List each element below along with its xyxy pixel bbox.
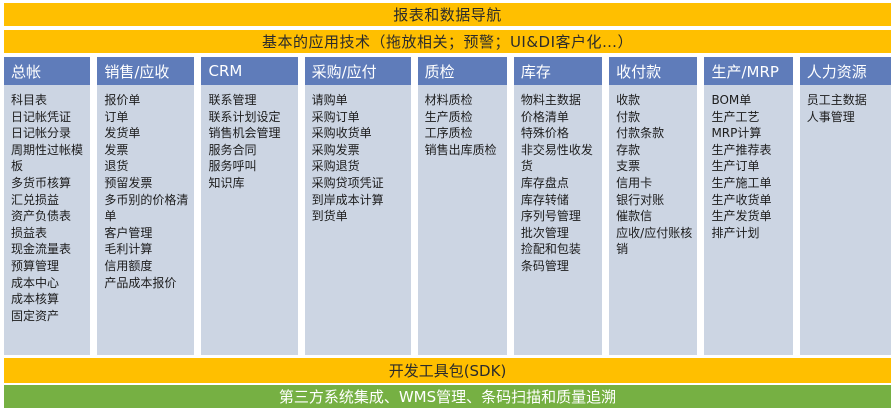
list-item[interactable]: 退货	[104, 158, 190, 175]
list-item[interactable]: 知识库	[208, 175, 293, 192]
column-body-quality-check: 材料质检 生产质检 工序质检 销售出库质检	[418, 85, 507, 355]
list-item[interactable]: 排产计划	[711, 225, 788, 242]
column-body-general-ledger: 科目表 日记帐凭证 日记帐分录 周期性过帐模板 多货币核算 汇兑损益 资产负债表…	[4, 85, 90, 355]
list-item[interactable]: 多货币核算	[11, 175, 86, 192]
column-general-ledger: 总帐 科目表 日记帐凭证 日记帐分录 周期性过帐模板 多货币核算 汇兑损益 资产…	[4, 57, 90, 355]
column-body-purchasing-ap: 请购单 采购订单 采购收货单 采购发票 采购退货 采购贷项凭证 到岸成本计算 到…	[305, 85, 411, 355]
list-item[interactable]: 应收/应付账核销	[616, 225, 693, 258]
list-item[interactable]: 销售机会管理	[208, 125, 293, 142]
banner-subtitle-text: 基本的应用技术（拖放相关；预警；UI&DI客户化…）	[262, 31, 633, 52]
list-item[interactable]: 支票	[616, 158, 693, 175]
list-item[interactable]: 工序质检	[425, 125, 503, 142]
banner-subtitle: 基本的应用技术（拖放相关；预警；UI&DI客户化…）	[4, 30, 891, 53]
list-item[interactable]: 科目表	[11, 92, 86, 109]
list-item[interactable]: 多币别的价格清单	[104, 192, 190, 225]
list-item[interactable]: 周期性过帐模板	[11, 142, 86, 175]
list-item[interactable]: 员工主数据	[807, 92, 887, 109]
list-item[interactable]: 日记帐凭证	[11, 109, 86, 126]
column-header-inventory[interactable]: 库存	[514, 57, 602, 85]
footer-sdk-bar: 开发工具包(SDK)	[4, 358, 891, 383]
module-map-root: 报表和数据导航 基本的应用技术（拖放相关；预警；UI&DI客户化…） 总帐 科目…	[0, 0, 895, 410]
column-body-crm: 联系管理 联系计划设定 销售机会管理 服务合同 服务呼叫 知识库	[201, 85, 297, 355]
list-item[interactable]: 催款信	[616, 208, 693, 225]
list-item[interactable]: 日记帐分录	[11, 125, 86, 142]
banner-title-text: 报表和数据导航	[393, 4, 502, 25]
list-item[interactable]: 生产推荐表	[711, 142, 788, 159]
list-item[interactable]: 生产发货单	[711, 208, 788, 225]
list-item[interactable]: 特殊价格	[521, 125, 598, 142]
list-item[interactable]: 采购退货	[312, 158, 407, 175]
column-purchasing-ap: 采购/应付 请购单 采购订单 采购收货单 采购发票 采购退货 采购贷项凭证 到岸…	[305, 57, 411, 355]
list-item[interactable]: 发票	[104, 142, 190, 159]
list-item[interactable]: 采购发票	[312, 142, 407, 159]
column-header-general-ledger[interactable]: 总帐	[4, 57, 90, 85]
list-item[interactable]: 生产订单	[711, 158, 788, 175]
column-crm: CRM 联系管理 联系计划设定 销售机会管理 服务合同 服务呼叫 知识库	[201, 57, 297, 355]
list-item[interactable]: 价格清单	[521, 109, 598, 126]
list-item[interactable]: 存款	[616, 142, 693, 159]
list-item[interactable]: 请购单	[312, 92, 407, 109]
list-item[interactable]: 序列号管理	[521, 208, 598, 225]
list-item[interactable]: 发货单	[104, 125, 190, 142]
list-item[interactable]: 汇兑损益	[11, 192, 86, 209]
list-item[interactable]: 生产质检	[425, 109, 503, 126]
list-item[interactable]: 资产负债表	[11, 208, 86, 225]
column-header-crm[interactable]: CRM	[201, 57, 297, 85]
column-body-sales-ar: 报价单 订单 发货单 发票 退货 预留发票 多币别的价格清单 客户管理 毛利计算…	[97, 85, 194, 355]
column-quality-check: 质检 材料质检 生产质检 工序质检 销售出库质检	[418, 57, 507, 355]
list-item[interactable]: 信用卡	[616, 175, 693, 192]
list-item[interactable]: 付款	[616, 109, 693, 126]
column-header-purchasing-ap[interactable]: 采购/应付	[305, 57, 411, 85]
list-item[interactable]: 销售出库质检	[425, 142, 503, 159]
list-item[interactable]: 到岸成本计算	[312, 192, 407, 209]
list-item[interactable]: 材料质检	[425, 92, 503, 109]
list-item[interactable]: 联系管理	[208, 92, 293, 109]
column-payments: 收付款 收款 付款 付款条款 存款 支票 信用卡 银行对账 催款信 应收/应付账…	[609, 57, 697, 355]
list-item[interactable]: 物料主数据	[521, 92, 598, 109]
column-header-production-mrp[interactable]: 生产/MRP	[704, 57, 792, 85]
column-header-payments[interactable]: 收付款	[609, 57, 697, 85]
column-header-quality-check[interactable]: 质检	[418, 57, 507, 85]
column-body-payments: 收款 付款 付款条款 存款 支票 信用卡 银行对账 催款信 应收/应付账核销	[609, 85, 697, 355]
footer-sdk-text: 开发工具包(SDK)	[389, 360, 507, 381]
column-header-sales-ar[interactable]: 销售/应收	[97, 57, 194, 85]
footer-integration-bar: 第三方系统集成、WMS管理、条码扫描和质量追溯	[4, 385, 891, 408]
list-item[interactable]: 信用额度	[104, 258, 190, 275]
list-item[interactable]: 到货单	[312, 208, 407, 225]
list-item[interactable]: 产品成本报价	[104, 275, 190, 292]
list-item[interactable]: 库存盘点	[521, 175, 598, 192]
list-item[interactable]: 生产施工单	[711, 175, 788, 192]
list-item[interactable]: 付款条款	[616, 125, 693, 142]
list-item[interactable]: 损益表	[11, 225, 86, 242]
list-item[interactable]: 客户管理	[104, 225, 190, 242]
column-production-mrp: 生产/MRP BOM单 生产工艺 MRP计算 生产推荐表 生产订单 生产施工单 …	[704, 57, 792, 355]
column-human-resources: 人力资源 员工主数据 人事管理	[800, 57, 891, 355]
list-item[interactable]: 采购贷项凭证	[312, 175, 407, 192]
column-body-human-resources: 员工主数据 人事管理	[800, 85, 891, 355]
list-item[interactable]: 固定资产	[11, 308, 86, 325]
list-item[interactable]: 批次管理	[521, 225, 598, 242]
list-item[interactable]: 预留发票	[104, 175, 190, 192]
list-item[interactable]: 非交易性收发货	[521, 142, 598, 175]
list-item[interactable]: 成本核算	[11, 291, 86, 308]
list-item[interactable]: 报价单	[104, 92, 190, 109]
list-item[interactable]: 库存转储	[521, 192, 598, 209]
list-item[interactable]: 捡配和包装	[521, 241, 598, 258]
list-item[interactable]: 生产收货单	[711, 192, 788, 209]
list-item[interactable]: 成本中心	[11, 275, 86, 292]
list-item[interactable]: 生产工艺	[711, 109, 788, 126]
list-item[interactable]: 预算管理	[11, 258, 86, 275]
list-item[interactable]: 联系计划设定	[208, 109, 293, 126]
list-item[interactable]: 服务合同	[208, 142, 293, 159]
column-header-human-resources[interactable]: 人力资源	[800, 57, 891, 85]
list-item[interactable]: 采购收货单	[312, 125, 407, 142]
column-sales-ar: 销售/应收 报价单 订单 发货单 发票 退货 预留发票 多币别的价格清单 客户管…	[97, 57, 194, 355]
list-item[interactable]: 订单	[104, 109, 190, 126]
list-item[interactable]: 银行对账	[616, 192, 693, 209]
list-item[interactable]: MRP计算	[711, 125, 788, 142]
list-item[interactable]: 人事管理	[807, 109, 887, 126]
list-item[interactable]: 收款	[616, 92, 693, 109]
list-item[interactable]: 采购订单	[312, 109, 407, 126]
module-columns: 总帐 科目表 日记帐凭证 日记帐分录 周期性过帐模板 多货币核算 汇兑损益 资产…	[4, 57, 891, 355]
list-item[interactable]: 条码管理	[521, 258, 598, 275]
column-inventory: 库存 物料主数据 价格清单 特殊价格 非交易性收发货 库存盘点 库存转储 序列号…	[514, 57, 602, 355]
column-body-production-mrp: BOM单 生产工艺 MRP计算 生产推荐表 生产订单 生产施工单 生产收货单 生…	[704, 85, 792, 355]
list-item[interactable]: BOM单	[711, 92, 788, 109]
banner-title: 报表和数据导航	[4, 3, 891, 26]
list-item[interactable]: 服务呼叫	[208, 158, 293, 175]
column-body-inventory: 物料主数据 价格清单 特殊价格 非交易性收发货 库存盘点 库存转储 序列号管理 …	[514, 85, 602, 355]
footer-integration-text: 第三方系统集成、WMS管理、条码扫描和质量追溯	[279, 386, 616, 407]
list-item[interactable]: 现金流量表	[11, 241, 86, 258]
list-item[interactable]: 毛利计算	[104, 241, 190, 258]
